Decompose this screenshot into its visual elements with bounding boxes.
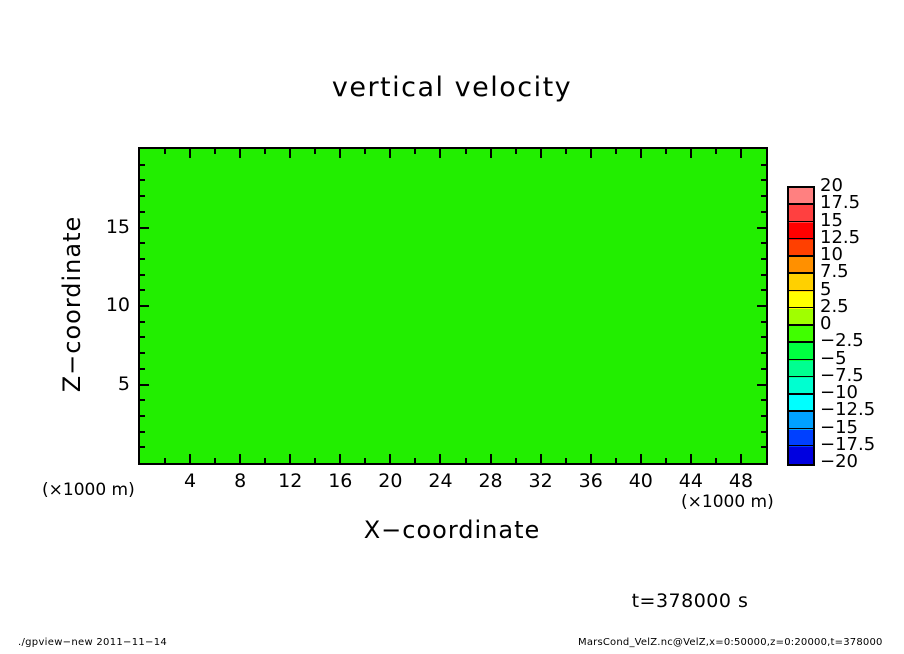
- y-tick-label-5: 5: [84, 373, 130, 395]
- x-tick-bottom-48: [740, 454, 742, 463]
- y-tick-right-14: [761, 242, 766, 244]
- colorbar-divider-1: [787, 203, 813, 205]
- colorbar-divider-11: [787, 376, 813, 378]
- x-tick-bottom-4: [189, 454, 191, 463]
- colorbar-label-16: −20: [820, 453, 858, 471]
- colorbar-divider-9: [787, 341, 813, 343]
- x-tick-bottom-44: [690, 454, 692, 463]
- x-tick-top-46: [715, 149, 717, 154]
- x-tick-label-44: 44: [668, 470, 714, 492]
- x-tick-bottom-38: [615, 458, 617, 463]
- x-tick-label-32: 32: [518, 470, 564, 492]
- x-unit-label-right: (×1000 m): [681, 492, 774, 512]
- colorbar-divider-14: [787, 428, 813, 430]
- colorbar-divider-2: [787, 221, 813, 223]
- x-tick-bottom-46: [715, 458, 717, 463]
- page-title: vertical velocity: [0, 72, 904, 103]
- x-tick-top-26: [465, 149, 467, 154]
- x-tick-label-28: 28: [468, 470, 514, 492]
- time-annotation: t=378000 s: [560, 590, 820, 612]
- x-tick-bottom-10: [264, 458, 266, 463]
- y-tick-left-6: [140, 368, 145, 370]
- y-tick-right-2: [761, 431, 766, 433]
- x-tick-bottom-40: [640, 454, 642, 463]
- x-tick-top-10: [264, 149, 266, 154]
- y-tick-right-8: [761, 336, 766, 338]
- y-tick-left-12: [140, 274, 145, 276]
- y-tick-left-13: [140, 258, 145, 260]
- x-tick-top-16: [339, 149, 341, 158]
- velocity-field-canvas: [140, 149, 766, 463]
- y-tick-right-12: [761, 274, 766, 276]
- y-tick-right-19: [761, 164, 766, 166]
- contour-plot-area[interactable]: [138, 147, 768, 465]
- y-tick-right-15: [757, 227, 766, 229]
- colorbar-divider-15: [787, 445, 813, 447]
- x-tick-top-32: [540, 149, 542, 158]
- x-tick-label-12: 12: [267, 470, 313, 492]
- x-tick-top-14: [314, 149, 316, 154]
- x-tick-top-8: [239, 149, 241, 158]
- x-tick-bottom-12: [289, 454, 291, 463]
- y-tick-right-9: [761, 321, 766, 323]
- y-tick-left-18: [140, 179, 145, 181]
- x-tick-label-8: 8: [217, 470, 263, 492]
- colorbar-divider-6: [787, 290, 813, 292]
- colorbar-divider-13: [787, 410, 813, 412]
- y-tick-left-10: [140, 305, 149, 307]
- y-tick-right-18: [761, 179, 766, 181]
- colorbar-divider-4: [787, 255, 813, 257]
- x-tick-top-40: [640, 149, 642, 158]
- x-tick-top-12: [289, 149, 291, 158]
- y-axis-title: Z−coordinate: [58, 184, 86, 424]
- x-tick-label-20: 20: [367, 470, 413, 492]
- y-tick-right-5: [757, 384, 766, 386]
- x-axis-title: X−coordinate: [0, 516, 904, 544]
- y-tick-left-16: [140, 211, 145, 213]
- x-tick-label-16: 16: [317, 470, 363, 492]
- x-tick-top-18: [364, 149, 366, 154]
- y-tick-left-3: [140, 415, 145, 417]
- x-tick-bottom-16: [339, 454, 341, 463]
- x-tick-bottom-22: [414, 458, 416, 463]
- x-tick-label-48: 48: [718, 470, 764, 492]
- y-tick-left-15: [140, 227, 149, 229]
- y-tick-left-7: [140, 352, 145, 354]
- y-tick-right-13: [761, 258, 766, 260]
- x-tick-top-24: [439, 149, 441, 158]
- y-tick-label-15: 15: [84, 216, 130, 238]
- x-tick-label-4: 4: [167, 470, 213, 492]
- colorbar-divider-8: [787, 324, 813, 326]
- y-tick-left-9: [140, 321, 145, 323]
- x-tick-top-30: [515, 149, 517, 154]
- colorbar-divider-7: [787, 307, 813, 309]
- x-tick-bottom-28: [490, 454, 492, 463]
- x-tick-label-40: 40: [618, 470, 664, 492]
- x-tick-top-20: [389, 149, 391, 158]
- y-tick-right-17: [761, 195, 766, 197]
- y-tick-right-3: [761, 415, 766, 417]
- colorbar-divider-12: [787, 393, 813, 395]
- y-tick-left-2: [140, 431, 145, 433]
- x-tick-top-44: [690, 149, 692, 158]
- y-tick-right-6: [761, 368, 766, 370]
- colorbar-divider-5: [787, 272, 813, 274]
- y-tick-right-10: [757, 305, 766, 307]
- x-unit-label-left: (×1000 m): [42, 480, 135, 500]
- x-tick-bottom-14: [314, 458, 316, 463]
- y-tick-left-1: [140, 446, 145, 448]
- x-tick-bottom-8: [239, 454, 241, 463]
- footer-source-stamp: MarsCond_VelZ.nc@VelZ,x=0:50000,z=0:2000…: [578, 637, 883, 648]
- x-tick-bottom-18: [364, 458, 366, 463]
- y-tick-left-14: [140, 242, 145, 244]
- y-tick-left-17: [140, 195, 145, 197]
- colorbar-divider-10: [787, 359, 813, 361]
- y-tick-right-4: [761, 399, 766, 401]
- colorbar-tick-marks: [787, 186, 811, 462]
- x-tick-bottom-30: [515, 458, 517, 463]
- x-tick-top-4: [189, 149, 191, 158]
- y-tick-right-11: [761, 289, 766, 291]
- x-tick-bottom-24: [439, 454, 441, 463]
- colorbar-divider-3: [787, 238, 813, 240]
- x-tick-top-6: [214, 149, 216, 154]
- y-tick-right-7: [761, 352, 766, 354]
- x-tick-bottom-20: [389, 454, 391, 463]
- x-tick-top-36: [590, 149, 592, 158]
- y-tick-left-5: [140, 384, 149, 386]
- footer-command-stamp: ./gpview−new 2011−11−14: [18, 637, 167, 648]
- x-tick-top-34: [565, 149, 567, 154]
- y-tick-left-19: [140, 164, 145, 166]
- x-tick-top-42: [665, 149, 667, 154]
- x-tick-bottom-42: [665, 458, 667, 463]
- y-tick-left-11: [140, 289, 145, 291]
- x-tick-top-22: [414, 149, 416, 154]
- y-tick-left-8: [140, 336, 145, 338]
- x-tick-bottom-26: [465, 458, 467, 463]
- y-tick-label-10: 10: [84, 294, 130, 316]
- x-tick-top-28: [490, 149, 492, 158]
- y-tick-right-1: [761, 446, 766, 448]
- x-tick-bottom-34: [565, 458, 567, 463]
- x-tick-bottom-32: [540, 454, 542, 463]
- x-tick-top-2: [164, 149, 166, 154]
- x-tick-bottom-36: [590, 454, 592, 463]
- y-tick-left-4: [140, 399, 145, 401]
- x-tick-bottom-6: [214, 458, 216, 463]
- x-tick-bottom-2: [164, 458, 166, 463]
- y-axis-tick-labels: 51015: [84, 147, 130, 465]
- x-tick-label-24: 24: [417, 470, 463, 492]
- colorbar-labels: 2017.51512.5107.552.50−2.5−5−7.5−10−12.5…: [820, 186, 900, 486]
- x-tick-label-36: 36: [568, 470, 614, 492]
- y-tick-right-16: [761, 211, 766, 213]
- x-tick-top-48: [740, 149, 742, 158]
- x-tick-top-38: [615, 149, 617, 154]
